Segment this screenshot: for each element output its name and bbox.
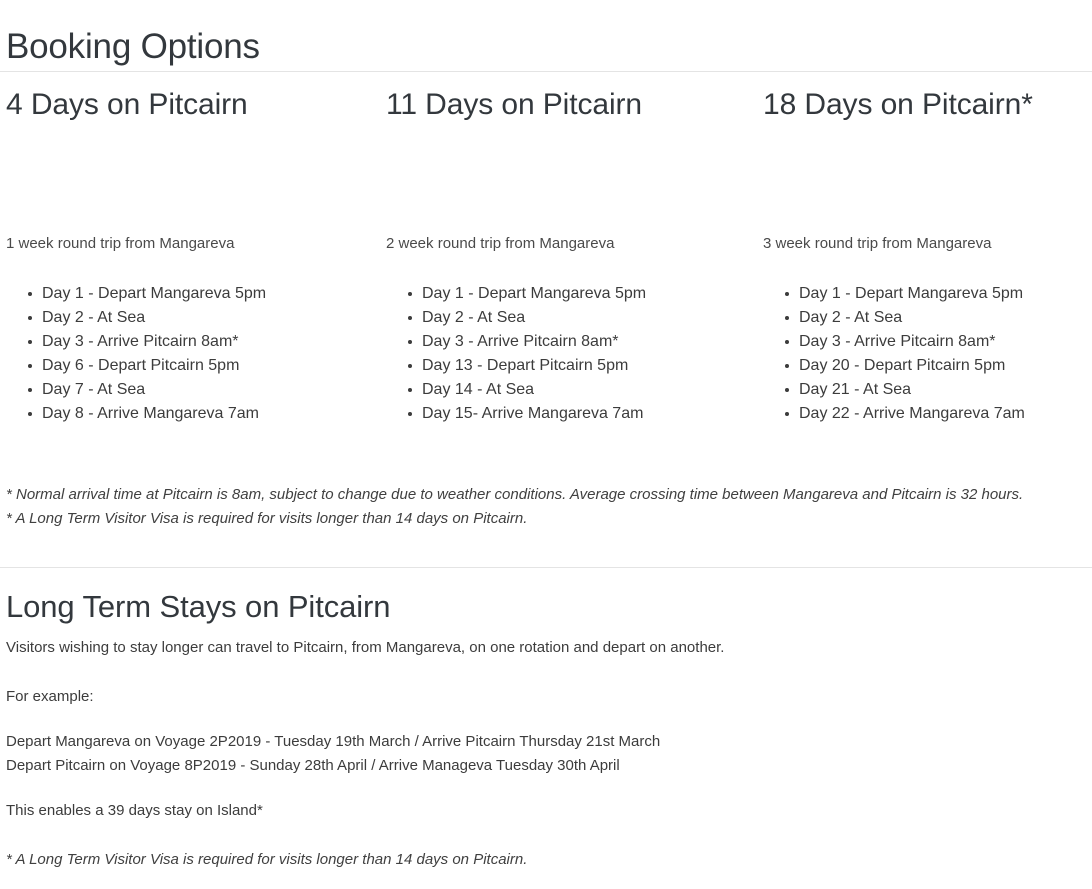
list-item: Day 14 - At Sea bbox=[386, 378, 646, 402]
list-item: Day 1 - Depart Mangareva 5pm bbox=[386, 282, 646, 306]
list-item: Day 22 - Arrive Mangareva 7am bbox=[763, 402, 1025, 426]
list-item: Day 1 - Depart Mangareva 5pm bbox=[6, 282, 266, 306]
divider-middle bbox=[0, 567, 1092, 568]
itinerary-list: Day 1 - Depart Mangareva 5pm Day 2 - At … bbox=[386, 282, 646, 426]
list-item: Day 1 - Depart Mangareva 5pm bbox=[763, 282, 1025, 306]
booking-footnotes: * Normal arrival time at Pitcairn is 8am… bbox=[6, 483, 1092, 531]
booking-option-title: 4 Days on Pitcairn bbox=[6, 86, 376, 124]
example-depart-mangareva: Depart Mangareva on Voyage 2P2019 - Tues… bbox=[6, 730, 1086, 754]
long-term-footnote-visa: * A Long Term Visitor Visa is required f… bbox=[6, 848, 1086, 872]
booking-option-title: 11 Days on Pitcairn bbox=[386, 86, 756, 124]
booking-options-page: Booking Options 4 Days on Pitcairn 1 wee… bbox=[0, 0, 1092, 889]
booking-option-title: 18 Days on Pitcairn* bbox=[763, 86, 1083, 124]
list-item: Day 3 - Arrive Pitcairn 8am* bbox=[6, 330, 266, 354]
list-item: Day 20 - Depart Pitcairn 5pm bbox=[763, 354, 1025, 378]
booking-option-18-days: 18 Days on Pitcairn* 3 week round trip f… bbox=[763, 86, 1083, 124]
list-item: Day 15- Arrive Mangareva 7am bbox=[386, 402, 646, 426]
list-item: Day 8 - Arrive Mangareva 7am bbox=[6, 402, 266, 426]
itinerary-list: Day 1 - Depart Mangareva 5pm Day 2 - At … bbox=[6, 282, 266, 426]
footnote-visa: * A Long Term Visitor Visa is required f… bbox=[6, 507, 1092, 531]
booking-option-11-days: 11 Days on Pitcairn 2 week round trip fr… bbox=[386, 86, 756, 124]
spacer bbox=[6, 709, 1086, 730]
footnote-arrival-time: * Normal arrival time at Pitcairn is 8am… bbox=[6, 483, 1092, 507]
section-title: Long Term Stays on Pitcairn bbox=[6, 586, 1086, 628]
list-item: Day 3 - Arrive Pitcairn 8am* bbox=[386, 330, 646, 354]
long-term-intro: Visitors wishing to stay longer can trav… bbox=[6, 636, 1086, 660]
spacer bbox=[6, 660, 1086, 685]
booking-options-columns: 4 Days on Pitcairn 1 week round trip fro… bbox=[0, 86, 1092, 446]
list-item: Day 21 - At Sea bbox=[763, 378, 1025, 402]
spacer bbox=[6, 778, 1086, 799]
example-label: For example: bbox=[6, 685, 1086, 709]
list-item: Day 2 - At Sea bbox=[386, 306, 646, 330]
booking-option-subtitle: 2 week round trip from Mangareva bbox=[386, 234, 614, 254]
long-term-conclusion: This enables a 39 days stay on Island* bbox=[6, 799, 1086, 823]
list-item: Day 7 - At Sea bbox=[6, 378, 266, 402]
long-term-stays-section: Long Term Stays on Pitcairn Visitors wis… bbox=[6, 586, 1086, 872]
list-item: Day 6 - Depart Pitcairn 5pm bbox=[6, 354, 266, 378]
list-item: Day 13 - Depart Pitcairn 5pm bbox=[386, 354, 646, 378]
itinerary-list: Day 1 - Depart Mangareva 5pm Day 2 - At … bbox=[763, 282, 1025, 426]
spacer bbox=[6, 823, 1086, 848]
booking-option-4-days: 4 Days on Pitcairn 1 week round trip fro… bbox=[6, 86, 376, 124]
list-item: Day 3 - Arrive Pitcairn 8am* bbox=[763, 330, 1025, 354]
list-item: Day 2 - At Sea bbox=[763, 306, 1025, 330]
page-title: Booking Options bbox=[6, 25, 260, 69]
booking-option-subtitle: 1 week round trip from Mangareva bbox=[6, 234, 234, 254]
divider-top bbox=[0, 71, 1092, 72]
booking-option-subtitle: 3 week round trip from Mangareva bbox=[763, 234, 991, 254]
example-depart-pitcairn: Depart Pitcairn on Voyage 8P2019 - Sunda… bbox=[6, 754, 1086, 778]
list-item: Day 2 - At Sea bbox=[6, 306, 266, 330]
